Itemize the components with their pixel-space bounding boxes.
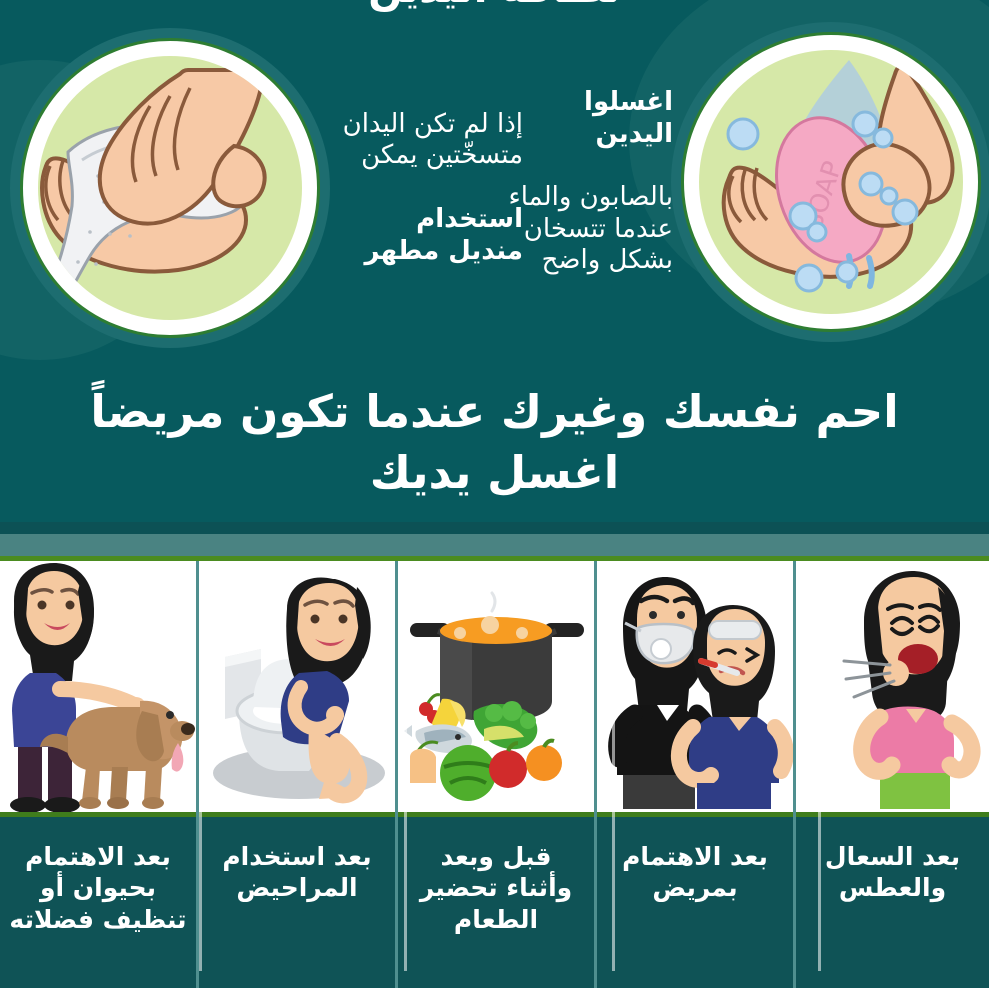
handwashing-moments-strip: بعد السعال والعطس — [0, 561, 989, 988]
card-cough-sneeze[interactable]: بعد السعال والعطس — [793, 561, 989, 988]
panel-sanitizing-wipe: إذا لم تكن اليدان متسخّتين يمكن استخدام … — [10, 28, 523, 348]
woman-sneezing-icon — [796, 561, 989, 812]
card-food-preparation[interactable]: قبل وبعد وأثناء تحضير الطعام — [395, 561, 594, 988]
wipe-hands-svg — [38, 56, 302, 320]
card-caption: قبل وبعد وأثناء تحضير الطعام — [398, 817, 594, 988]
panel-wipe-emphasis: استخدام منديل مطهر — [338, 204, 523, 267]
infographic-poster: نظافة اليدين — [0, 0, 989, 988]
headline-line-1: احم نفسك وغيرك عندما تكون مريضاً — [20, 382, 969, 443]
card-caption: بعد السعال والعطس — [796, 817, 989, 988]
divider-band-dark — [0, 522, 989, 534]
soap-hands-svg: SOAP — [699, 50, 963, 314]
panel-wipe-text: إذا لم تكن اليدان متسخّتين يمكن استخدام … — [338, 77, 523, 299]
card-caption: بعد الاهتمام بحيوان أو تنظيف فضلاته — [0, 817, 196, 988]
headline-line-2: اغسل يديك — [20, 443, 969, 504]
card-caption: بعد الاهتمام بمريض — [597, 817, 793, 988]
panel-wash-with-soap-text: اغسلوا اليدين بالصابون والماء عندما تتسخ… — [498, 55, 673, 309]
cooking-pot-and-food-icon — [398, 561, 594, 812]
panel-wipe-regular: إذا لم تكن اليدان متسخّتين يمكن — [338, 109, 523, 172]
card-sick-person[interactable]: بعد الاهتمام بمريض — [594, 561, 793, 988]
caring-for-sick-person-icon — [597, 561, 793, 812]
divider-band-light — [0, 534, 989, 556]
handwashing-with-soap-illustration: SOAP — [671, 22, 989, 342]
woman-on-toilet-icon — [199, 561, 395, 812]
panel-wash-with-soap: SOAP — [498, 22, 989, 342]
panel-wash-regular: بالصابون والماء عندما تتسخان بشكل واضح — [498, 182, 673, 277]
sanitizing-wipe-illustration — [10, 28, 330, 348]
woman-petting-dog-icon — [0, 561, 196, 812]
panel-wash-emphasis: اغسلوا اليدين — [498, 87, 673, 150]
main-headline: احم نفسك وغيرك عندما تكون مريضاً اغسل يد… — [0, 382, 989, 504]
card-toilet[interactable]: بعد استخدام المراحيض — [196, 561, 395, 988]
top-illustration-section: SOAP — [0, 0, 989, 375]
card-animal-care[interactable]: بعد الاهتمام بحيوان أو تنظيف فضلاته — [0, 561, 196, 988]
card-caption: بعد استخدام المراحيض — [199, 817, 395, 988]
